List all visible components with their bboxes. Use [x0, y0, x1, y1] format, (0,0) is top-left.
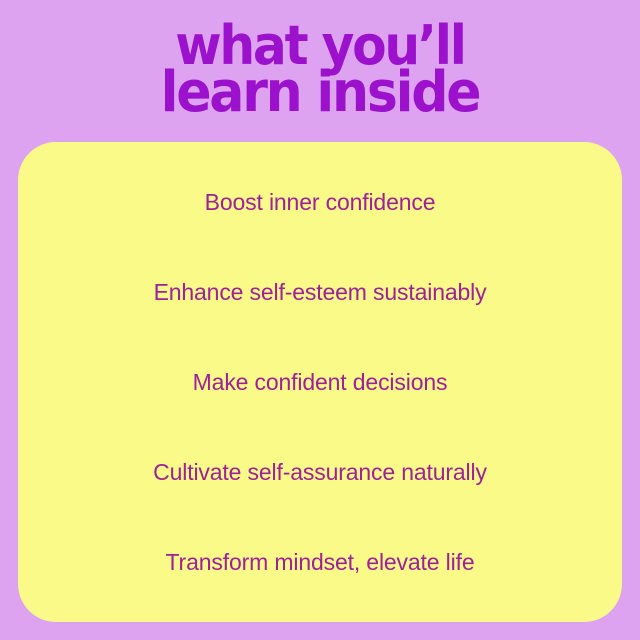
- list-item: Make confident decisions: [42, 368, 598, 396]
- page-title: what you’ll learn inside: [0, 22, 640, 116]
- list-item: Boost inner confidence: [42, 188, 598, 216]
- benefits-card: Boost inner confidence Enhance self-este…: [18, 142, 622, 622]
- promo-poster: what you’ll learn inside Boost inner con…: [0, 0, 640, 640]
- page-title-line-2: learn inside: [22, 69, 617, 116]
- list-item: Cultivate self-assurance naturally: [42, 458, 598, 486]
- list-item: Transform mindset, elevate life: [42, 548, 598, 576]
- list-item: Enhance self-esteem sustainably: [42, 278, 598, 306]
